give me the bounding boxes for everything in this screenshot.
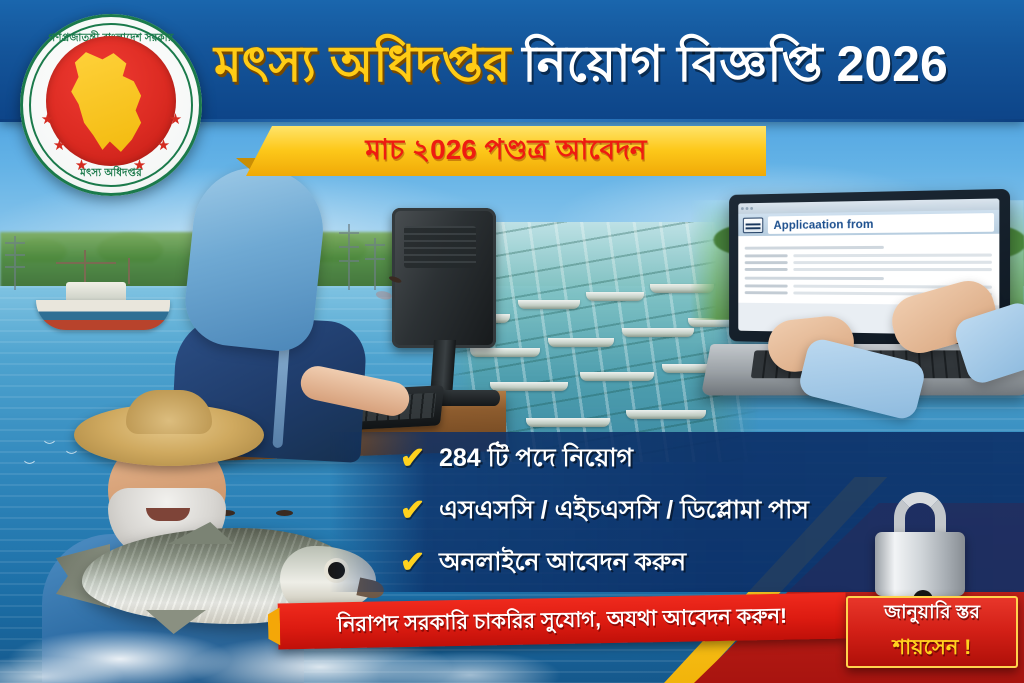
form-row xyxy=(745,268,992,271)
boat-yard xyxy=(56,262,116,264)
form-header: Applicaation from xyxy=(738,210,999,236)
seal-star-icon: ★ xyxy=(168,112,183,127)
form-field-label xyxy=(745,261,788,264)
padlock-icon xyxy=(872,492,968,596)
boat-mast-secondary xyxy=(128,258,130,284)
checkmark-icon: ✔ xyxy=(400,444,426,474)
bottom-tagline-text: নিরাপদ সরকারি চাকরির সুযোগ, অযথা আবেদন ক… xyxy=(337,599,788,643)
checkmark-icon: ✔ xyxy=(400,548,426,578)
form-field-label xyxy=(745,291,788,294)
form-field-label xyxy=(745,254,788,257)
form-field-input[interactable] xyxy=(793,261,992,264)
list-item: ✔ 284 টি পদে নিয়োগ xyxy=(400,438,890,481)
checkmark-icon: ✔ xyxy=(400,496,426,526)
form-row xyxy=(745,253,992,257)
form-row xyxy=(745,261,992,264)
toolbar-dot-icon xyxy=(750,207,753,210)
deadline-badge-line2: শায়সেন ! xyxy=(893,631,972,666)
straw-hat xyxy=(74,404,264,466)
deadline-badge-line1: জানুয়ারি স্তর xyxy=(884,598,980,630)
desktop-monitor xyxy=(392,208,510,404)
form-window-title: Applicaation from xyxy=(768,213,994,234)
form-field-input[interactable] xyxy=(793,268,992,271)
seal-star-icon: ★ xyxy=(52,138,67,153)
woman-at-computer xyxy=(150,168,390,418)
page-title-secondary: নিয়োগ বিজ্ঞপ্তি 2026 xyxy=(522,39,947,89)
transmission-tower-left xyxy=(14,236,16,290)
page-title: মৎস্য অধিদপ্তর নিয়োগ বিজ্ঞপ্তি 2026 xyxy=(214,28,1004,100)
deadline-badge: জানুয়ারি স্তর শায়সেন ! xyxy=(846,596,1018,668)
woman-hijab xyxy=(181,162,329,355)
seal-star-icon: ★ xyxy=(156,138,171,153)
seal-bottom-text: মৎস্য অধিদপ্তর xyxy=(27,164,194,183)
monitor-screen xyxy=(392,208,496,348)
window-card-icon xyxy=(743,217,763,233)
deadline-ribbon-text: মাচ ২026 পণ্ডত্র আবেদন xyxy=(365,128,646,175)
job-circular-poster: ︶ ︶ ︶ xyxy=(0,0,1024,683)
deadline-ribbon: মাচ ২026 পণ্ডত্র আবেদন xyxy=(246,126,766,176)
toolbar-dot-icon xyxy=(741,207,744,210)
form-field-label xyxy=(745,268,788,271)
padlock-body xyxy=(875,532,965,596)
list-item: ✔ অনলাইনে আবেদন করুন xyxy=(400,542,890,585)
monitor-vents xyxy=(404,226,476,268)
toolbar-dot-icon xyxy=(746,207,749,210)
form-section-divider xyxy=(745,277,884,280)
list-item-label: এসএসসি / এইচএসসি / ডিপ্লোমা পাস xyxy=(439,490,809,533)
list-item-label: অনলাইনে আবেদন করুন xyxy=(439,542,686,585)
list-item: ✔ এসএসসি / এইচএসসি / ডিপ্লোমা পাস xyxy=(400,490,890,533)
government-seal: গণপ্রজাতন্ত্রী বাংলাদেশ সরকার ★ ★ ★ ★ ★ … xyxy=(20,14,202,196)
fisherman-eye-right xyxy=(276,510,293,516)
page-title-primary: মৎস্য অধিদপ্তর xyxy=(214,39,510,89)
woman-cheek xyxy=(375,290,392,301)
form-field-input[interactable] xyxy=(793,253,992,257)
highlights-list: ✔ 284 টি পদে নিয়োগ ✔ এসএসসি / এইচএসসি /… xyxy=(392,444,890,578)
boat-cabin xyxy=(66,282,126,302)
form-field-label xyxy=(745,284,788,287)
boat-mast xyxy=(84,250,86,284)
form-section-divider xyxy=(745,246,884,250)
seal-star-icon: ★ xyxy=(40,112,55,127)
laptop-with-application-form: Applicaation from xyxy=(706,192,1024,407)
list-item-label: 284 টি পদে নিয়োগ xyxy=(439,438,633,481)
